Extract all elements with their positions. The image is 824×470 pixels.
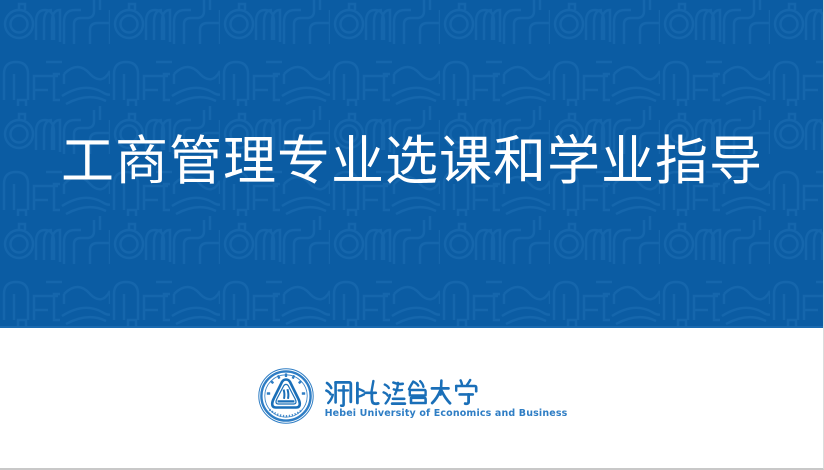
presentation-slide: 工商管理专业选课和学业指导 [0,0,824,470]
slide-title: 工商管理专业选课和学业指导 [61,133,763,195]
university-name-en: Hebei University of Economics and Busine… [324,409,568,419]
footer-area: Hebei University of Economics and Busine… [0,328,824,468]
university-name-block: Hebei University of Economics and Busine… [324,373,568,419]
university-logo: Hebei University of Economics and Busine… [257,367,568,425]
title-area: 工商管理专业选课和学业指导 [0,0,824,328]
university-name-cn [324,373,486,407]
university-seal-icon [257,367,315,425]
title-banner: 工商管理专业选课和学业指导 [0,0,824,328]
